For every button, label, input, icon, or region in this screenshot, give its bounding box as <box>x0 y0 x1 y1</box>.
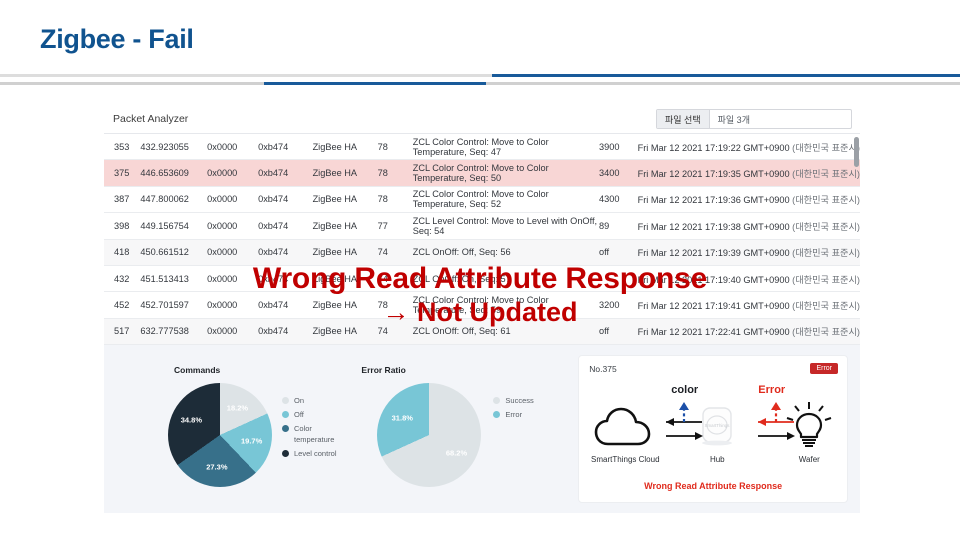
cell-destination: 0xb474 <box>258 194 312 204</box>
legend-swatch-icon <box>493 411 500 418</box>
cell-timestamp-offset: 446.653609 <box>140 168 207 178</box>
dashboard: Commands 18.2%19.7%27.3%34.8% OnOffColor… <box>104 345 860 513</box>
cell-value: 89 <box>599 221 638 231</box>
pie-slice-label: 19.7% <box>241 437 262 446</box>
cell-source: 0x0000 <box>207 221 258 231</box>
cell-packet-no: 418 <box>104 247 140 257</box>
cell-value: 3900 <box>599 142 638 152</box>
cell-packet-no: 517 <box>104 326 140 336</box>
node-smartthings-cloud: SmartThings Cloud <box>585 406 665 464</box>
legend-label: Success <box>505 395 533 406</box>
cell-description: ZCL Color Control: Move to Color Tempera… <box>413 137 599 157</box>
cell-packet-no: 353 <box>104 142 140 152</box>
diagram-packet-no: No.375 <box>589 364 616 374</box>
cell-destination: 0xb474 <box>258 326 312 336</box>
cell-datetime: Fri Mar 12 2021 17:19:22 GMT+0900 (대한민국 … <box>638 140 860 154</box>
cell-value: 4300 <box>599 194 638 204</box>
cell-length: 78 <box>378 300 413 310</box>
cell-description: ZCL OnOff: Off, Seq: 61 <box>413 326 599 336</box>
cell-length: 78 <box>378 142 413 152</box>
cell-source: 0x0000 <box>207 274 258 284</box>
cell-destination: 0xb474 <box>258 274 312 284</box>
legend-swatch-icon <box>282 397 289 404</box>
table-row[interactable]: 375446.6536090x00000xb474ZigBee HA78ZCL … <box>104 160 860 186</box>
cloud-icon <box>594 435 656 452</box>
cell-description: ZCL Level Control: Move to Level with On… <box>413 216 599 236</box>
table-row[interactable]: 353432.9230550x00000xb474ZigBee HA78ZCL … <box>104 134 860 160</box>
cell-datetime: Fri Mar 12 2021 17:19:38 GMT+0900 (대한민국 … <box>638 219 860 233</box>
pie-slice-label: 18.2% <box>227 404 248 413</box>
node-label: Wafer <box>769 455 849 464</box>
cell-value: off <box>599 247 638 257</box>
cell-packet-no: 432 <box>104 274 140 284</box>
cell-length: 78 <box>378 168 413 178</box>
header-divider-bottom-accent <box>264 82 486 85</box>
cell-source: 0x0000 <box>207 194 258 204</box>
cell-protocol: ZigBee HA <box>313 274 378 284</box>
table-row[interactable]: 432451.5134130x00000xb474ZigBee HA74ZCL … <box>104 266 860 292</box>
cell-value: off <box>599 326 638 336</box>
table-row[interactable]: 398449.1567540x00000xb474ZigBee HA77ZCL … <box>104 213 860 239</box>
cell-length: 74 <box>378 274 413 284</box>
cell-description: ZCL Color Control: Move to Color Tempera… <box>413 295 599 315</box>
slide: Zigbee - Fail Packet Analyzer 파일 선택 파일 3… <box>0 0 960 540</box>
cell-length: 77 <box>378 221 413 231</box>
cell-protocol: ZigBee HA <box>313 221 378 231</box>
diagram-caption: Wrong Read Attribute Response <box>579 481 847 491</box>
page-title: Zigbee - Fail <box>40 24 194 55</box>
legend-label: On <box>294 395 304 406</box>
table-row[interactable]: 452452.7015970x00000xb474ZigBee HA78ZCL … <box>104 292 860 318</box>
error-ratio-pie: 68.2%31.8% <box>377 383 481 487</box>
legend-item: Off <box>282 409 353 420</box>
cell-length: 74 <box>378 247 413 257</box>
cell-value: 3200 <box>599 300 638 310</box>
legend-item: Color temperature <box>282 423 353 445</box>
cell-destination: 0xb474 <box>258 142 312 152</box>
flow-arrows-hub-wafer <box>755 400 797 447</box>
file-input[interactable]: 파일 선택 파일 3개 <box>656 109 852 129</box>
cell-timestamp-offset: 447.800062 <box>140 194 207 204</box>
cell-timestamp-offset: 632.777538 <box>140 326 207 336</box>
table-row[interactable]: 517632.7775380x00000xb474ZigBee HA74ZCL … <box>104 319 860 345</box>
cell-packet-no: 398 <box>104 221 140 231</box>
legend-item: Error <box>493 409 533 420</box>
cell-protocol: ZigBee HA <box>313 194 378 204</box>
diagram-right-flow-label: Error <box>758 384 785 396</box>
node-label: SmartThings Cloud <box>585 455 665 464</box>
legend-label: Error <box>505 409 522 420</box>
cell-value: 3400 <box>599 168 638 178</box>
cell-timezone-name: (대한민국 표준시) <box>792 248 860 258</box>
legend-item: Success <box>493 395 533 406</box>
cell-length: 74 <box>378 326 413 336</box>
cell-timezone-name: (대한민국 표준시) <box>792 222 860 232</box>
cell-timezone-name: (대한민국 표준시) <box>792 327 860 337</box>
table-row[interactable]: 418450.6615120x00000xb474ZigBee HA74ZCL … <box>104 240 860 266</box>
flow-arrows-cloud-hub <box>663 400 705 447</box>
packet-analyzer-header: Packet Analyzer 파일 선택 파일 3개 <box>104 105 860 134</box>
cell-packet-no: 375 <box>104 168 140 178</box>
cell-description: ZCL Color Control: Move to Color Tempera… <box>413 163 599 183</box>
device-flow-diagram: No.375 Error color Error SmartThings Clo… <box>578 355 848 503</box>
cell-timestamp-offset: 449.156754 <box>140 221 207 231</box>
cell-datetime: Fri Mar 12 2021 17:19:35 GMT+0900 (대한민국 … <box>638 166 860 180</box>
packet-table[interactable]: 353432.9230550x00000xb474ZigBee HA78ZCL … <box>104 134 860 345</box>
cell-timezone-name: (대한민국 표준시) <box>792 143 860 153</box>
file-status-label: 파일 3개 <box>710 110 750 128</box>
cell-timezone-name: (대한민국 표준시) <box>792 301 860 311</box>
legend-swatch-icon <box>282 425 289 432</box>
cell-timezone-name: (대한민국 표준시) <box>792 275 860 285</box>
cell-length: 78 <box>378 194 413 204</box>
legend-label: Color temperature <box>294 423 353 445</box>
cell-timezone-name: (대한민국 표준시) <box>792 195 860 205</box>
node-label: Hub <box>677 455 757 464</box>
cell-datetime: Fri Mar 12 2021 17:19:39 GMT+0900 (대한민국 … <box>638 245 860 259</box>
cell-destination: 0xb474 <box>258 247 312 257</box>
error-ratio-chart-card: Error Ratio 68.2%31.8% SuccessError <box>353 355 570 503</box>
cell-description: ZCL OnOff: On, Seq: 57 <box>413 274 599 284</box>
table-scrollbar[interactable] <box>854 137 859 167</box>
cell-datetime: Fri Mar 12 2021 17:19:36 GMT+0900 (대한민국 … <box>638 192 860 206</box>
pie-slice-label: 31.8% <box>392 413 413 422</box>
cell-description: ZCL Color Control: Move to Color Tempera… <box>413 189 599 209</box>
legend-swatch-icon <box>282 450 289 457</box>
cell-timestamp-offset: 451.513413 <box>140 274 207 284</box>
cell-source: 0x0000 <box>207 326 258 336</box>
cell-source: 0x0000 <box>207 300 258 310</box>
pie-slice-label: 34.8% <box>181 416 202 425</box>
cell-protocol: ZigBee HA <box>313 326 378 336</box>
file-select-button[interactable]: 파일 선택 <box>657 110 710 128</box>
cell-timestamp-offset: 450.661512 <box>140 247 207 257</box>
commands-chart-card: Commands 18.2%19.7%27.3%34.8% OnOffColor… <box>116 355 353 503</box>
cell-timezone-name: (대한민국 표준시) <box>792 169 860 179</box>
cell-protocol: ZigBee HA <box>313 142 378 152</box>
pie-slice-label: 27.3% <box>206 463 227 472</box>
cell-source: 0x0000 <box>207 142 258 152</box>
cell-protocol: ZigBee HA <box>313 247 378 257</box>
header-divider-top-accent <box>492 74 960 77</box>
cell-packet-no: 452 <box>104 300 140 310</box>
table-row[interactable]: 387447.8000620x00000xb474ZigBee HA78ZCL … <box>104 187 860 213</box>
pie-slice-label: 68.2% <box>446 448 467 457</box>
legend-label: Off <box>294 409 304 420</box>
cell-timestamp-offset: 432.923055 <box>140 142 207 152</box>
commands-legend: OnOffColor temperatureLevel control <box>282 395 353 462</box>
diagram-left-flow-label: color <box>671 384 698 396</box>
error-ratio-chart-title: Error Ratio <box>361 365 405 375</box>
cell-packet-no: 387 <box>104 194 140 204</box>
cell-source: 0x0000 <box>207 168 258 178</box>
commands-chart-title: Commands <box>174 365 220 375</box>
cell-datetime: Fri Mar 12 2021 17:19:40 GMT+0900 (대한민국 … <box>638 272 860 286</box>
packet-analyzer-title: Packet Analyzer <box>113 113 188 125</box>
cell-destination: 0xb474 <box>258 221 312 231</box>
legend-item: Level control <box>282 448 353 459</box>
legend-swatch-icon <box>493 397 500 404</box>
cell-description: ZCL OnOff: Off, Seq: 56 <box>413 247 599 257</box>
cell-destination: 0xb474 <box>258 300 312 310</box>
svg-text:SmartThings: SmartThings <box>705 423 731 428</box>
legend-label: Level control <box>294 448 337 459</box>
legend-item: On <box>282 395 353 406</box>
legend-swatch-icon <box>282 411 289 418</box>
error-ratio-legend: SuccessError <box>493 395 533 423</box>
packet-analyzer-panel: Packet Analyzer 파일 선택 파일 3개 353432.92305… <box>104 105 860 515</box>
cell-destination: 0xb474 <box>258 168 312 178</box>
cell-protocol: ZigBee HA <box>313 168 378 178</box>
cell-protocol: ZigBee HA <box>313 300 378 310</box>
cell-timestamp-offset: 452.701597 <box>140 300 207 310</box>
commands-pie: 18.2%19.7%27.3%34.8% <box>168 383 272 487</box>
cell-source: 0x0000 <box>207 247 258 257</box>
cell-datetime: Fri Mar 12 2021 17:19:41 GMT+0900 (대한민국 … <box>638 298 860 312</box>
status-badge: Error <box>810 363 838 374</box>
cell-datetime: Fri Mar 12 2021 17:22:41 GMT+0900 (대한민국 … <box>638 324 860 338</box>
